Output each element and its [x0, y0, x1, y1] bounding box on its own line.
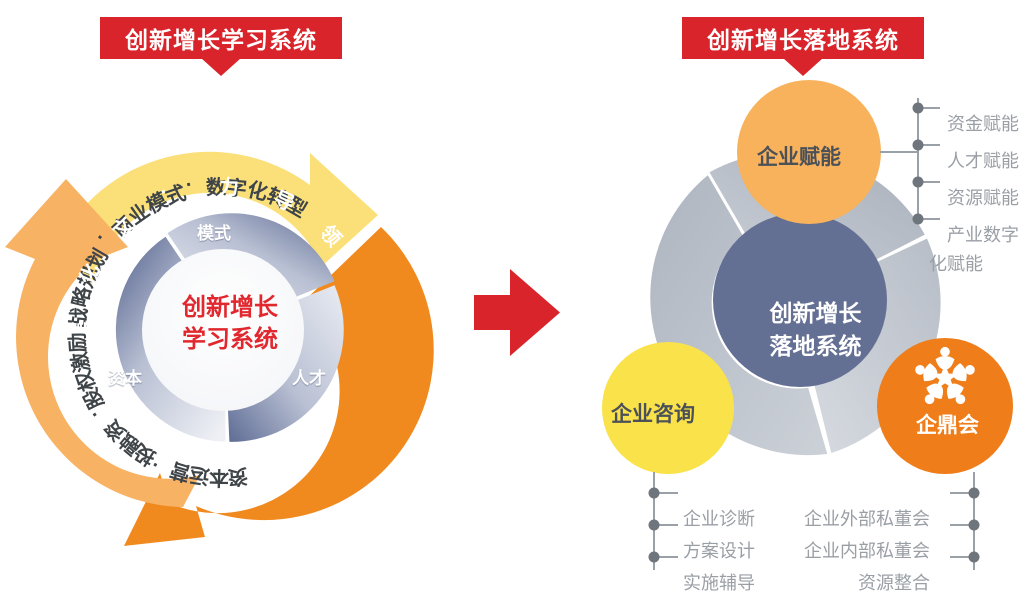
leaf-consulting-0: 企业诊断: [683, 505, 755, 531]
leaf-qidinghui-2: 资源整合: [858, 569, 930, 595]
red-right-arrow-icon: [472, 265, 562, 360]
leaf-empower-2: 资源赋能: [947, 184, 1019, 210]
right-banner: 创新增长落地系统: [682, 17, 924, 59]
leaf-empower-4: 化赋能: [929, 250, 983, 276]
leaf-consulting-2: 实施辅导: [683, 569, 755, 595]
inner-label-mode: 模式: [197, 219, 231, 244]
inner-label-capital: 资本: [108, 364, 142, 389]
left-banner: 创新增长学习系统: [100, 17, 342, 59]
leaf-empower-3: 产业数字: [947, 221, 1019, 247]
leaf-empower-0: 资金赋能: [947, 110, 1019, 136]
right-core-line2: 落地系统: [728, 330, 903, 363]
leaf-empower-1: 人才赋能: [947, 147, 1019, 173]
inner-label-talent: 人才: [292, 364, 326, 389]
left-core-line2: 学习系统: [150, 324, 310, 356]
banner-notch-icon: [783, 58, 823, 76]
left-core-text: 创新增长 学习系统: [150, 292, 310, 356]
banner-notch-icon: [201, 58, 241, 76]
right-banner-text: 创新增长落地系统: [707, 21, 899, 55]
node-empower-label[interactable]: 企业赋能: [757, 141, 841, 171]
node-consulting-label[interactable]: 企业咨询: [611, 398, 695, 428]
left-core-line1: 创新增长: [150, 292, 310, 324]
leaf-qidinghui-1: 企业内部私董会: [804, 537, 930, 563]
diagram-canvas: 创新增长学习系统 创新增长落地系统: [0, 0, 1025, 594]
right-core-text: 创新增长 落地系统: [728, 297, 903, 363]
left-banner-text: 创新增长学习系统: [125, 21, 317, 55]
leaf-qidinghui-0: 企业外部私董会: [804, 505, 930, 531]
right-core-line1: 创新增长: [728, 297, 903, 330]
leaf-consulting-1: 方案设计: [683, 537, 755, 563]
node-qidinghui-label[interactable]: 企鼎会: [916, 409, 979, 439]
